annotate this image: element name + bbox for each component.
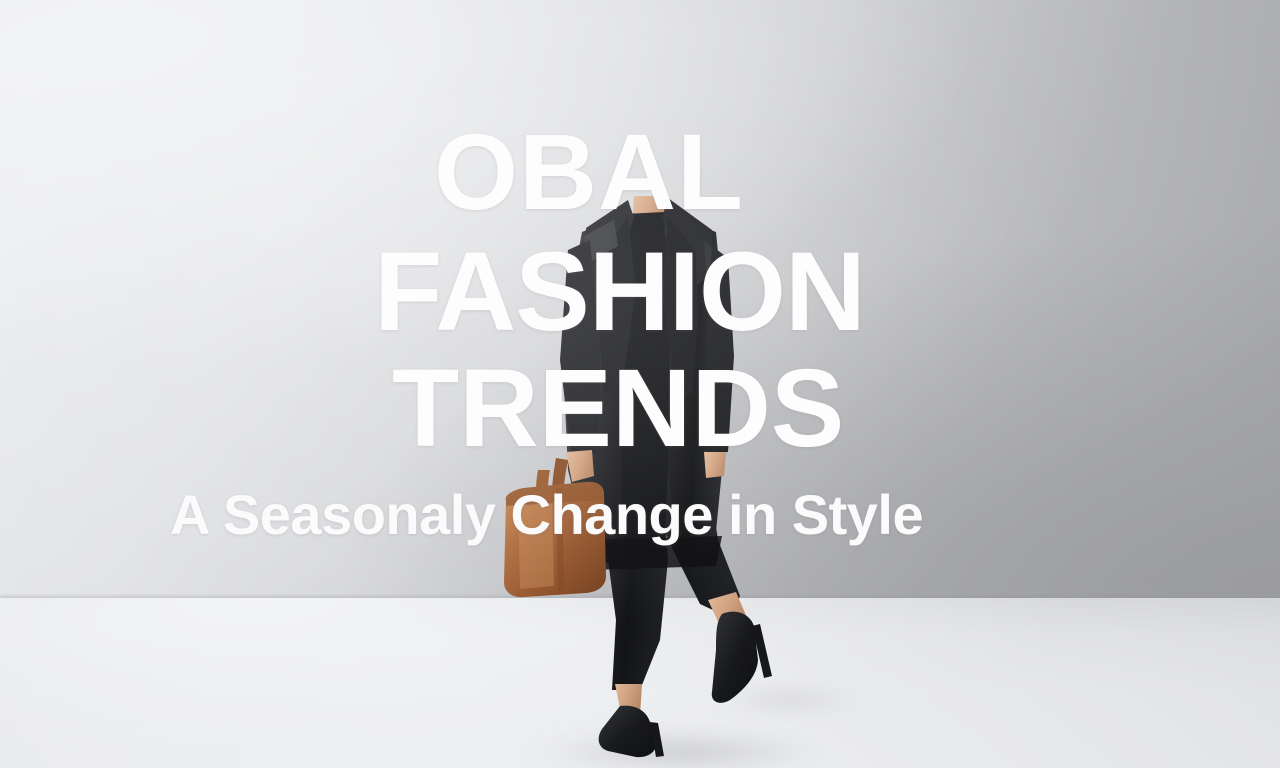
model-figure — [0, 0, 1280, 768]
fashion-poster: OBAL FASHION TRENDS A Seasonaly Change i… — [0, 0, 1280, 768]
hand-right — [704, 452, 726, 478]
coat-hem — [586, 536, 722, 570]
shoe-left — [599, 706, 656, 757]
model-body — [504, 196, 772, 757]
floor-shadow — [530, 732, 830, 768]
